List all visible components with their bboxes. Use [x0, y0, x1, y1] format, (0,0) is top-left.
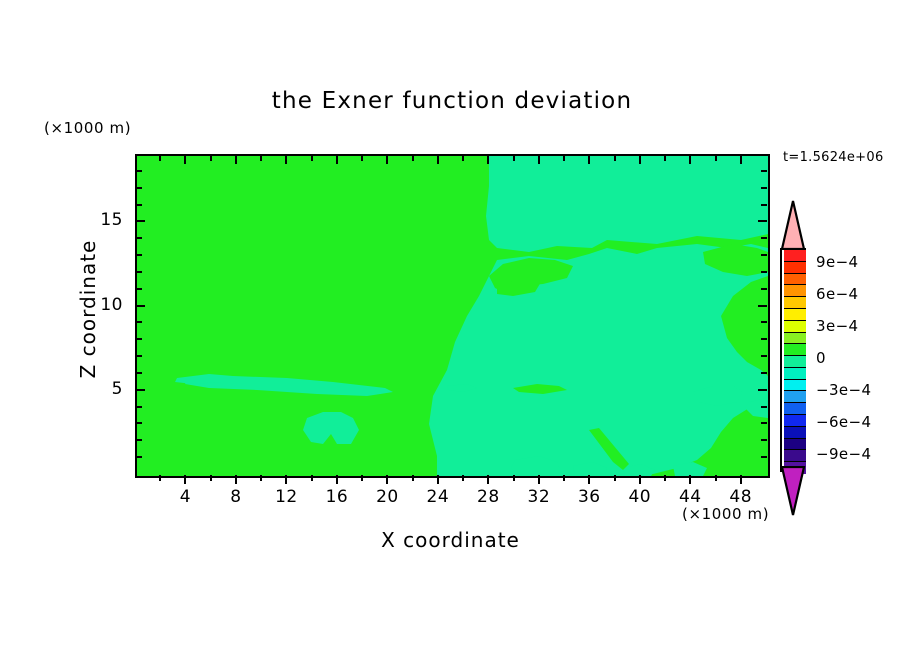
- x-tick-mark: [639, 475, 641, 484]
- x-tick-mark: [588, 475, 590, 484]
- colorbar-tick-label: 6e−4: [816, 285, 858, 303]
- time-annotation: t=1.5624e+06: [783, 150, 884, 165]
- y-tick-mark: [136, 187, 142, 189]
- y-tick-mark-right: [761, 338, 767, 340]
- colorbar: 9e−46e−43e−40−3e−4−6e−4−9e−4: [780, 200, 806, 514]
- x-tick-mark: [386, 475, 388, 484]
- x-tick-mark-top: [740, 155, 742, 164]
- x-tick-mark: [210, 475, 212, 481]
- x-tick-mark-top: [412, 155, 414, 161]
- x-tick-mark: [563, 475, 565, 481]
- y-tick-mark: [136, 237, 142, 239]
- y-tick-mark: [136, 406, 142, 408]
- x-tick-mark: [260, 475, 262, 481]
- colorbar-band: [784, 274, 806, 286]
- colorbar-band: [784, 333, 806, 345]
- colorbar-band: [784, 391, 806, 403]
- y-tick-mark: [136, 254, 142, 256]
- x-tick-label: 36: [566, 487, 612, 507]
- y-tick-mark: [136, 389, 145, 391]
- x-tick-mark: [513, 475, 515, 481]
- colorbar-band: [784, 356, 806, 368]
- colorbar-band: [784, 321, 806, 333]
- x-tick-mark-top: [715, 155, 717, 161]
- x-tick-mark: [361, 475, 363, 481]
- x-tick-label: 28: [465, 487, 511, 507]
- x-tick-mark-top: [159, 155, 161, 161]
- colorbar-band: [784, 450, 806, 462]
- x-tick-mark: [437, 475, 439, 484]
- x-tick-mark: [664, 475, 666, 481]
- y-tick-label: 15: [77, 210, 123, 230]
- x-tick-mark: [184, 475, 186, 484]
- x-tick-mark-top: [210, 155, 212, 161]
- y-tick-mark-right: [761, 456, 767, 458]
- y-tick-mark-right: [761, 288, 767, 290]
- colorbar-extend-top-arrow: [780, 200, 806, 250]
- colorbar-band: [784, 344, 806, 356]
- colorbar-band: [784, 250, 806, 262]
- y-tick-mark: [136, 220, 145, 222]
- y-tick-mark: [136, 170, 142, 172]
- y-tick-mark: [136, 321, 142, 323]
- colorbar-band: [784, 380, 806, 392]
- x-tick-label: 48: [718, 487, 764, 507]
- y-tick-mark: [136, 456, 142, 458]
- x-tick-label: 32: [516, 487, 562, 507]
- y-tick-mark-right: [761, 321, 767, 323]
- contour-field: [137, 156, 768, 476]
- y-tick-mark-right: [761, 170, 767, 172]
- colorbar-tick-label: −9e−4: [816, 445, 871, 463]
- x-tick-mark-top: [664, 155, 666, 161]
- colorbar-band: [784, 285, 806, 297]
- x-tick-mark-top: [462, 155, 464, 161]
- x-tick-mark: [689, 475, 691, 484]
- x-tick-mark-top: [513, 155, 515, 161]
- x-tick-label: 8: [213, 487, 259, 507]
- y-tick-mark: [136, 338, 142, 340]
- colorbar-band: [784, 403, 806, 415]
- x-tick-mark-top: [184, 155, 186, 164]
- x-tick-mark-top: [588, 155, 590, 164]
- y-tick-mark-right: [761, 422, 767, 424]
- x-tick-mark-top: [563, 155, 565, 161]
- x-tick-mark: [462, 475, 464, 481]
- y-tick-mark-right: [761, 406, 767, 408]
- colorbar-band: [784, 262, 806, 274]
- colorbar-extend-bottom-arrow: [780, 466, 806, 516]
- y-tick-mark-right: [761, 271, 767, 273]
- x-tick-mark: [412, 475, 414, 481]
- x-tick-mark-top: [361, 155, 363, 161]
- y-tick-mark: [136, 372, 142, 374]
- contour-region-negative: [486, 156, 768, 252]
- y-tick-mark-right: [758, 305, 767, 307]
- x-tick-mark: [235, 475, 237, 484]
- y-tick-mark-right: [761, 237, 767, 239]
- x-tick-mark: [285, 475, 287, 484]
- y-tick-mark: [136, 271, 142, 273]
- colorbar-tick-label: 9e−4: [816, 253, 858, 271]
- x-tick-label: 24: [415, 487, 461, 507]
- x-tick-mark-top: [487, 155, 489, 164]
- x-tick-mark-top: [311, 155, 313, 161]
- x-tick-mark: [487, 475, 489, 484]
- y-tick-mark-right: [761, 439, 767, 441]
- x-tick-mark-top: [235, 155, 237, 164]
- y-tick-mark-right: [761, 355, 767, 357]
- y-tick-label: 10: [77, 295, 123, 315]
- colorbar-tick-label: −6e−4: [816, 413, 871, 431]
- colorbar-band: [784, 415, 806, 427]
- x-tick-label: 44: [667, 487, 713, 507]
- y-tick-mark-right: [758, 389, 767, 391]
- x-tick-mark: [336, 475, 338, 484]
- x-tick-label: 20: [364, 487, 410, 507]
- x-tick-mark-top: [538, 155, 540, 164]
- page-title: the Exner function deviation: [0, 88, 904, 114]
- y-tick-mark: [136, 439, 142, 441]
- y-tick-mark: [136, 422, 142, 424]
- x-tick-mark-top: [437, 155, 439, 164]
- x-tick-mark: [311, 475, 313, 481]
- figure-canvas: the Exner function deviation (×1000 m) (…: [0, 0, 904, 654]
- y-tick-mark-right: [761, 187, 767, 189]
- y-axis-units-label: (×1000 m): [44, 119, 131, 137]
- x-tick-mark-top: [336, 155, 338, 164]
- y-tick-mark: [136, 204, 142, 206]
- x-tick-mark: [715, 475, 717, 481]
- colorbar-band: [784, 439, 806, 451]
- colorbar-band: [784, 297, 806, 309]
- x-tick-mark-top: [260, 155, 262, 161]
- x-tick-label: 4: [162, 487, 208, 507]
- x-axis-title: X coordinate: [135, 528, 766, 552]
- y-tick-mark-right: [761, 204, 767, 206]
- colorbar-bands: [780, 248, 806, 472]
- colorbar-tick-label: 3e−4: [816, 317, 858, 335]
- y-tick-mark: [136, 305, 145, 307]
- contour-plot-area: [135, 154, 770, 478]
- colorbar-tick-label: 0: [816, 349, 826, 367]
- y-tick-mark: [136, 288, 142, 290]
- colorbar-band: [784, 309, 806, 321]
- y-tick-label: 5: [77, 379, 123, 399]
- colorbar-band: [784, 368, 806, 380]
- y-tick-mark-right: [758, 220, 767, 222]
- y-tick-mark-right: [761, 254, 767, 256]
- x-tick-label: 16: [314, 487, 360, 507]
- x-tick-mark: [538, 475, 540, 484]
- x-tick-mark: [740, 475, 742, 484]
- x-tick-mark-top: [689, 155, 691, 164]
- x-tick-mark-top: [285, 155, 287, 164]
- x-tick-label: 40: [617, 487, 663, 507]
- colorbar-tick-label: −3e−4: [816, 381, 871, 399]
- y-tick-mark: [136, 355, 142, 357]
- x-axis-units-label: (×1000 m): [682, 505, 769, 523]
- colorbar-band: [784, 427, 806, 439]
- y-tick-mark-right: [761, 372, 767, 374]
- x-tick-mark: [614, 475, 616, 481]
- x-tick-label: 12: [263, 487, 309, 507]
- x-tick-mark-top: [386, 155, 388, 164]
- x-tick-mark-top: [639, 155, 641, 164]
- x-tick-mark: [159, 475, 161, 481]
- x-tick-mark-top: [614, 155, 616, 161]
